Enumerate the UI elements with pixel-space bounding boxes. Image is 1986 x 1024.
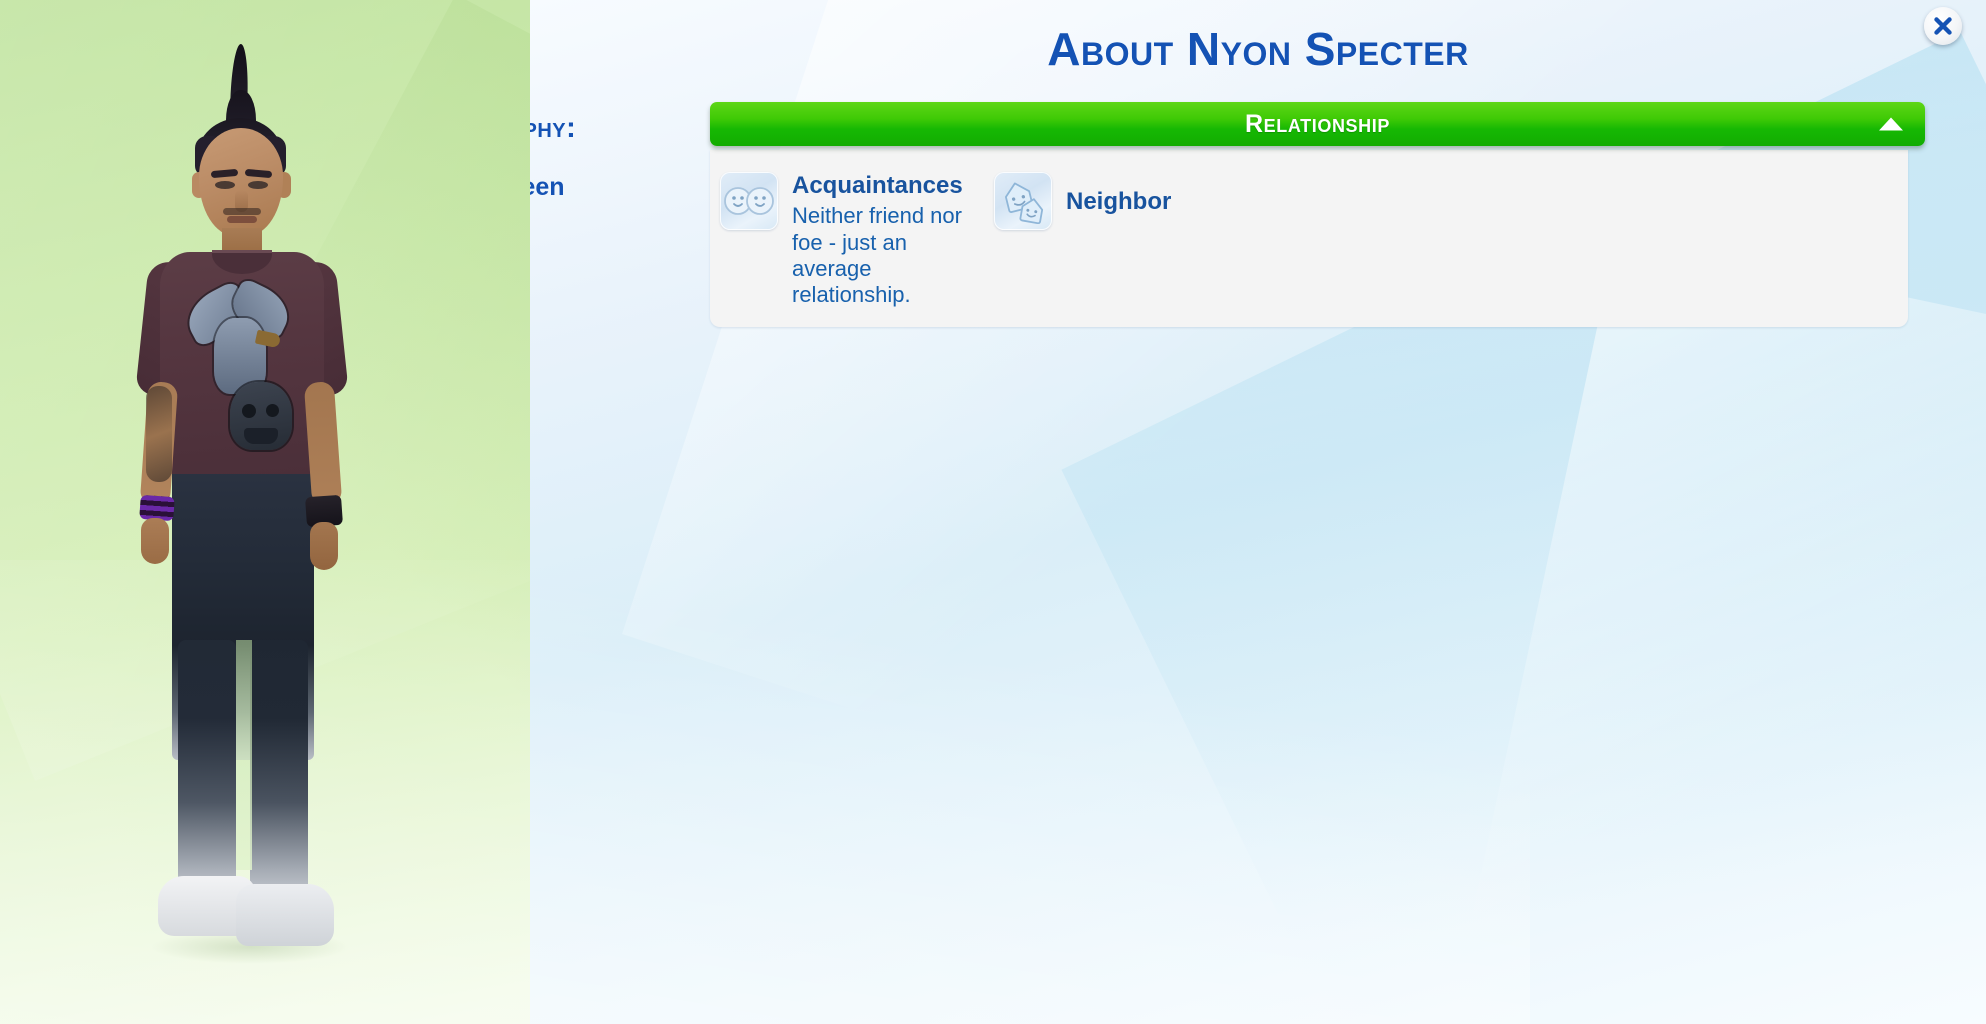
shoe (236, 884, 334, 946)
eye (215, 181, 235, 189)
leg-gap (236, 640, 252, 870)
relationship-card: Acquaintances Neither friend nor foe - j… (710, 150, 1908, 327)
biography-item-label: Teen (530, 173, 565, 202)
list-item[interactable]: Neighbor (994, 172, 1171, 230)
eye (248, 181, 268, 189)
leg (178, 640, 236, 902)
relationship-header-label: Relationship (1245, 110, 1390, 139)
relationship-entry-text: Acquaintances Neither friend nor foe - j… (792, 172, 978, 309)
background-facet (1459, 236, 1986, 1024)
background-facet (530, 520, 1530, 1024)
sim-preview-panel[interactable] (0, 0, 530, 1024)
chevron-up-icon[interactable] (1879, 118, 1903, 131)
tattoo-icon (146, 386, 172, 482)
hand (141, 518, 169, 564)
biography-heading: Biography: (530, 112, 576, 145)
close-button[interactable] (1924, 7, 1962, 45)
two-houses-icon (998, 178, 1048, 224)
moustache (223, 208, 261, 215)
two-faces-icon-tile (720, 172, 778, 230)
two-faces-icon (724, 184, 774, 218)
skull-graphic-icon (266, 404, 279, 417)
relationship-entry-title: Neighbor (1066, 189, 1171, 214)
sim-character-render[interactable] (0, 0, 530, 1024)
list-item[interactable]: Teen (530, 158, 565, 216)
leg (250, 640, 308, 902)
relationship-entry-title: Acquaintances (792, 173, 978, 198)
skull-graphic-icon (242, 404, 256, 418)
two-houses-icon-tile (994, 172, 1052, 230)
close-x-icon (1932, 15, 1954, 37)
page-title: About Nyon Specter (530, 22, 1986, 76)
skull-graphic-icon (244, 428, 278, 444)
hand (310, 522, 338, 570)
about-content-panel: About Nyon Specter Biography: (530, 0, 1986, 1024)
list-item[interactable]: Acquaintances Neither friend nor foe - j… (720, 172, 992, 309)
relationship-section: Relationship (710, 102, 1925, 327)
relationship-entry-description: Neither friend nor foe - just an average… (792, 203, 978, 309)
about-sim-dialog: About Nyon Specter Biography: (0, 0, 1986, 1024)
biography-list: Teen (530, 158, 565, 216)
relationship-entry-text: Neighbor (1066, 188, 1171, 214)
mouth (227, 216, 257, 223)
relationship-header-bar[interactable]: Relationship (710, 102, 1925, 146)
